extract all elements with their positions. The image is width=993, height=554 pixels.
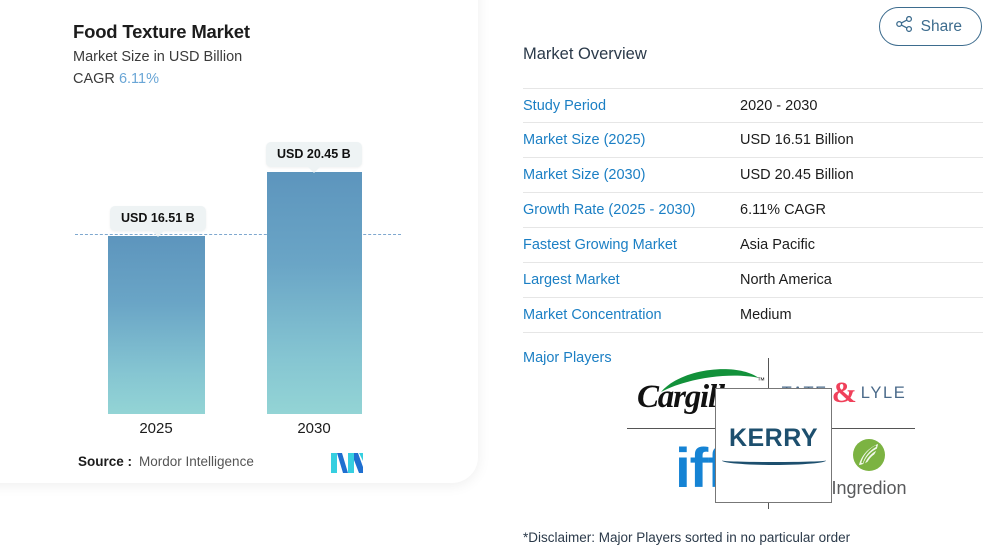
table-row-value: 2020 - 2030 [740,98,817,114]
chart-cagr-value: 6.11% [119,71,159,87]
x-axis-label-2025: 2025 [96,420,216,437]
chart-title: Food Texture Market [73,21,250,43]
player-logo-kerry: KERRY [715,388,832,503]
player-name-ingredion: Ingredion [831,478,906,499]
table-row-value: Asia Pacific [740,237,815,253]
player-name-cargill: Cargill [637,379,724,416]
major-players-logo-grid: Cargill ™ TATE & LYLE iff [627,358,915,509]
market-overview-table: Study Period 2020 - 2030 Market Size (20… [523,88,983,333]
bar-value-label-2030: USD 20.45 B [266,142,362,167]
table-row: Growth Rate (2025 - 2030) 6.11% CAGR [523,193,983,228]
trademark-icon: ™ [757,376,765,385]
table-row-key: Largest Market [523,272,740,288]
table-row-value: USD 20.45 Billion [740,167,854,183]
table-row: Study Period 2020 - 2030 [523,88,983,123]
share-nodes-icon [896,16,913,37]
page-root: Food Texture Market Market Size in USD B… [0,0,993,554]
chart-cagr-label: CAGR [73,71,115,87]
table-row-value: 6.11% CAGR [740,202,826,218]
table-row-value: USD 16.51 Billion [740,132,854,148]
table-row-key: Growth Rate (2025 - 2030) [523,202,740,218]
table-row-key: Fastest Growing Market [523,237,740,253]
table-row: Market Concentration Medium [523,298,983,333]
table-row-key: Market Concentration [523,307,740,323]
chart-subtitle: Market Size in USD Billion [73,49,242,65]
kerry-swoosh-icon [722,456,826,465]
chart-card: Food Texture Market Market Size in USD B… [0,0,478,483]
bar-2025 [108,236,205,414]
source-label: Source : [78,454,132,469]
ingredion-leaf-icon [852,438,886,477]
x-axis-label-2030: 2030 [254,420,374,437]
bar-value-label-2025: USD 16.51 B [110,206,206,231]
mordor-intelligence-logo [331,453,363,478]
table-row: Largest Market North America [523,263,983,298]
player-name-kerry: KERRY [720,424,828,453]
chart-cagr: CAGR 6.11% [73,71,159,87]
table-row: Market Size (2030) USD 20.45 Billion [523,158,983,193]
table-row-key: Market Size (2025) [523,132,740,148]
table-row: Market Size (2025) USD 16.51 Billion [523,123,983,158]
player-logo-ingredion: Ingredion [823,432,915,504]
player-name-lyle: LYLE [861,384,907,403]
market-overview-title: Market Overview [523,45,647,64]
share-button-label: Share [921,18,962,36]
ampersand-icon: & [832,376,857,410]
table-row-value: Medium [740,307,792,323]
chart-inner: Food Texture Market Market Size in USD B… [0,0,478,483]
share-button[interactable]: Share [879,7,982,46]
source-row: Source : Mordor Intelligence [78,454,254,469]
bar-2030 [267,172,362,414]
major-players-label: Major Players [523,350,612,366]
disclaimer-text: *Disclaimer: Major Players sorted in no … [523,530,850,545]
source-value: Mordor Intelligence [139,454,254,469]
table-row-value: North America [740,272,832,288]
table-row-key: Study Period [523,98,740,114]
table-row-key: Market Size (2030) [523,167,740,183]
table-row: Fastest Growing Market Asia Pacific [523,228,983,263]
